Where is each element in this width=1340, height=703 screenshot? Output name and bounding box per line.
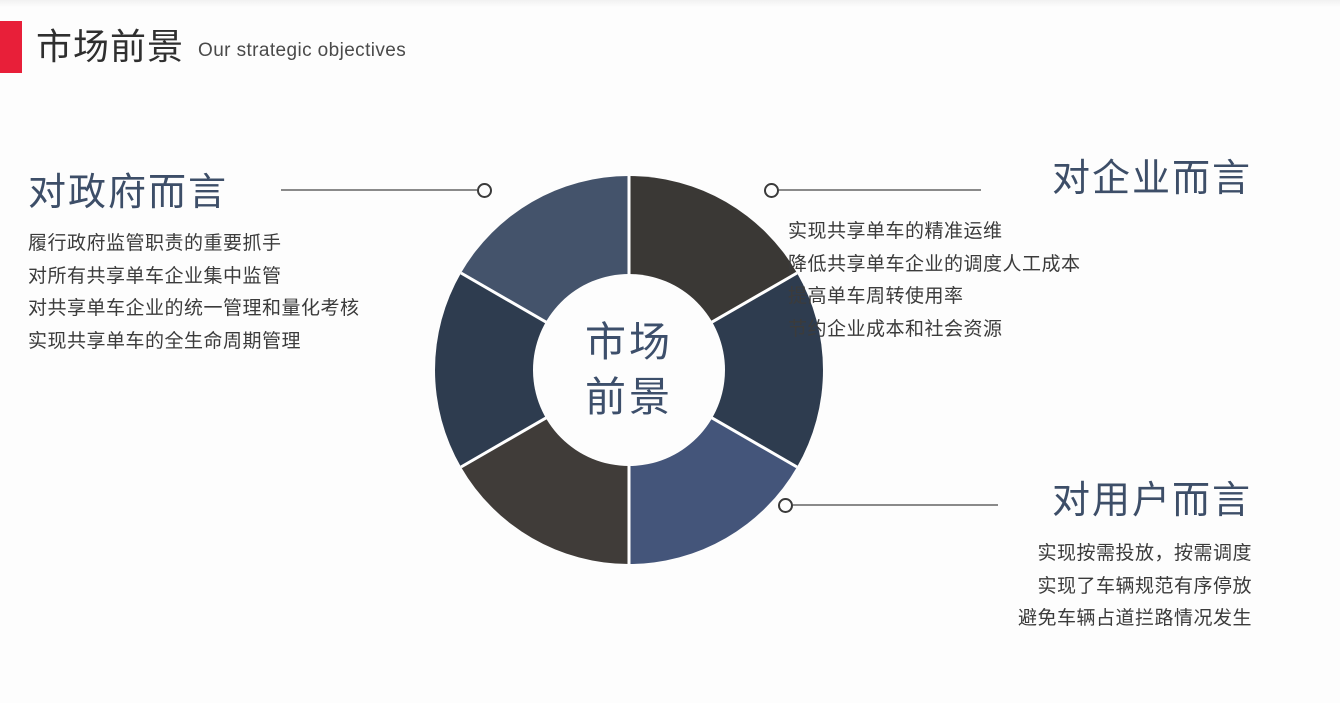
block-title-enterprise: 对企业而言 (782, 160, 1252, 198)
list-item: 降低共享单车企业的调度人工成本 (788, 249, 1252, 282)
list-item: 节约企业成本和社会资源 (788, 314, 1252, 347)
list-item: 对共享单车企业的统一管理和量化考核 (28, 293, 428, 326)
red-accent-bar (0, 21, 22, 73)
block-title-user: 对用户而言 (782, 482, 1252, 520)
page-subtitle: Our strategic objectives (198, 32, 406, 62)
list-item: 实现共享单车的精准运维 (788, 216, 1252, 249)
list-item: 履行政府监管职责的重要抓手 (28, 228, 428, 261)
connector-dot-icon (477, 183, 492, 198)
text-block-government: 对政府而言 履行政府监管职责的重要抓手 对所有共享单车企业集中监管 对共享单车企… (28, 174, 428, 359)
donut-chart: 市场 前景 (433, 174, 825, 566)
list-item: 实现按需投放，按需调度 (782, 538, 1252, 571)
list-item: 实现共享单车的全生命周期管理 (28, 326, 428, 359)
text-block-user: 对用户而言 实现按需投放，按需调度 实现了车辆规范有序停放 避免车辆占道拦路情况… (782, 482, 1252, 636)
block-list-user: 实现按需投放，按需调度 实现了车辆规范有序停放 避免车辆占道拦路情况发生 (782, 538, 1252, 636)
list-item: 实现了车辆规范有序停放 (782, 571, 1252, 604)
donut-hole (533, 274, 725, 466)
list-item: 对所有共享单车企业集中监管 (28, 261, 428, 294)
block-title-government: 对政府而言 (28, 174, 428, 212)
list-item: 避免车辆占道拦路情况发生 (782, 603, 1252, 636)
slide-canvas: 市场前景 Our strategic objectives (0, 0, 1340, 703)
donut-svg (433, 174, 825, 566)
page-title: 市场前景 (36, 29, 184, 65)
block-list-enterprise: 实现共享单车的精准运维 降低共享单车企业的调度人工成本 提高单车周转使用率 节约… (782, 216, 1252, 347)
list-item: 提高单车周转使用率 (788, 281, 1252, 314)
block-list-government: 履行政府监管职责的重要抓手 对所有共享单车企业集中监管 对共享单车企业的统一管理… (28, 228, 428, 359)
slide-header: 市场前景 Our strategic objectives (0, 20, 406, 74)
connector-dot-icon (764, 183, 779, 198)
top-edge-strip (0, 0, 1340, 7)
text-block-enterprise: 对企业而言 实现共享单车的精准运维 降低共享单车企业的调度人工成本 提高单车周转… (782, 160, 1252, 347)
